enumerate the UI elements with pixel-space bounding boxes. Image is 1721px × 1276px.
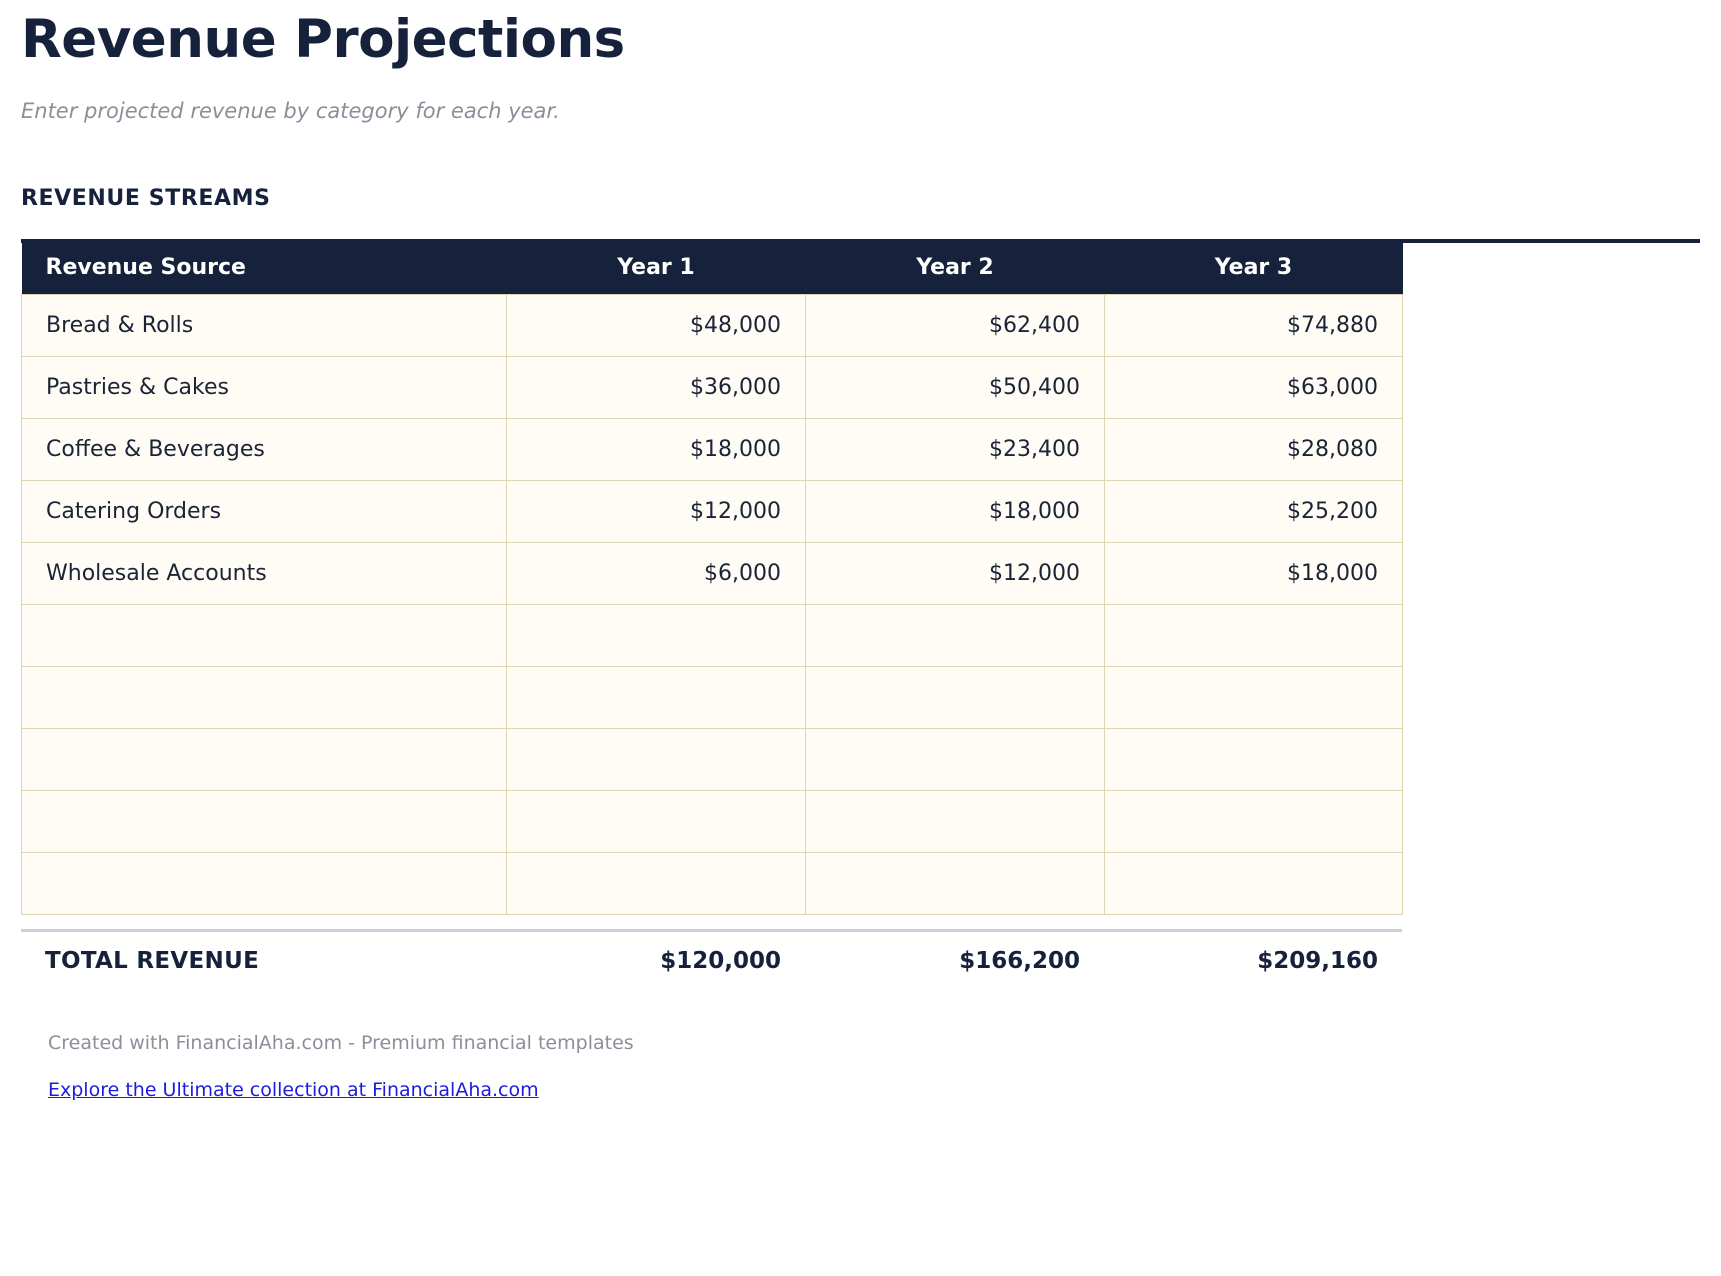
table-row: Catering Orders$12,000$18,000$25,200 [22,480,1403,542]
cell-year-3[interactable] [1105,666,1403,728]
table-row: Wholesale Accounts$6,000$12,000$18,000 [22,542,1403,604]
table-body: Bread & Rolls$48,000$62,400$74,880Pastri… [22,294,1403,914]
cell-year-2[interactable] [806,604,1105,666]
column-header-revenue-source: Revenue Source [22,242,507,294]
cell-year-1[interactable]: $36,000 [507,356,806,418]
cell-year-1[interactable] [507,728,806,790]
footer-note: Created with FinancialAha.com - Premium … [21,1031,1700,1055]
cell-year-3[interactable] [1105,604,1403,666]
footer-link[interactable]: Explore the Ultimate collection at Finan… [48,1078,539,1102]
cell-year-3[interactable]: $25,200 [1105,480,1403,542]
cell-year-2[interactable]: $23,400 [806,418,1105,480]
cell-year-3[interactable]: $18,000 [1105,542,1403,604]
cell-year-2[interactable]: $18,000 [806,480,1105,542]
table-row: Bread & Rolls$48,000$62,400$74,880 [22,294,1403,356]
total-revenue-year-2: $166,200 [805,948,1104,974]
cell-revenue-source[interactable] [22,728,507,790]
total-revenue-label: TOTAL REVENUE [21,948,506,974]
table-row-empty [22,666,1403,728]
cell-year-3[interactable] [1105,790,1403,852]
table-row: Coffee & Beverages$18,000$23,400$28,080 [22,418,1403,480]
column-header-year-1: Year 1 [507,242,806,294]
cell-year-3[interactable]: $74,880 [1105,294,1403,356]
cell-year-1[interactable]: $48,000 [507,294,806,356]
cell-year-2[interactable]: $62,400 [806,294,1105,356]
cell-year-2[interactable]: $50,400 [806,356,1105,418]
table-header-row: Revenue Source Year 1 Year 2 Year 3 [22,242,1403,294]
column-header-year-2: Year 2 [806,242,1105,294]
table-row-empty [22,728,1403,790]
cell-revenue-source[interactable]: Bread & Rolls [22,294,507,356]
total-revenue-row: TOTAL REVENUE $120,000 $166,200 $209,160 [21,929,1402,991]
cell-year-1[interactable]: $6,000 [507,542,806,604]
cell-year-2[interactable]: $12,000 [806,542,1105,604]
cell-revenue-source[interactable]: Wholesale Accounts [22,542,507,604]
revenue-table-wrapper: Revenue Source Year 1 Year 2 Year 3 Brea… [21,239,1700,991]
cell-year-1[interactable] [507,852,806,914]
cell-revenue-source[interactable] [22,604,507,666]
page-title: Revenue Projections [21,0,1700,72]
column-header-year-3: Year 3 [1105,242,1403,294]
cell-revenue-source[interactable] [22,666,507,728]
page-footer: Created with FinancialAha.com - Premium … [21,991,1700,1102]
table-row-empty [22,604,1403,666]
table-row-empty [22,790,1403,852]
cell-year-3[interactable] [1105,728,1403,790]
cell-year-1[interactable] [507,666,806,728]
cell-revenue-source[interactable] [22,852,507,914]
cell-revenue-source[interactable] [22,790,507,852]
cell-year-1[interactable]: $12,000 [507,480,806,542]
cell-year-1[interactable] [507,790,806,852]
cell-revenue-source[interactable]: Coffee & Beverages [22,418,507,480]
section-title-revenue-streams: REVENUE STREAMS [21,124,1700,212]
cell-year-2[interactable] [806,790,1105,852]
cell-year-3[interactable] [1105,852,1403,914]
cell-year-1[interactable] [507,604,806,666]
cell-year-2[interactable] [806,852,1105,914]
cell-year-1[interactable]: $18,000 [507,418,806,480]
table-header: Revenue Source Year 1 Year 2 Year 3 [22,242,1403,294]
cell-revenue-source[interactable]: Catering Orders [22,480,507,542]
revenue-projections-page: Revenue Projections Enter projected reve… [0,0,1721,1276]
revenue-streams-table: Revenue Source Year 1 Year 2 Year 3 Brea… [21,242,1403,915]
cell-revenue-source[interactable]: Pastries & Cakes [22,356,507,418]
cell-year-3[interactable]: $63,000 [1105,356,1403,418]
table-row-empty [22,852,1403,914]
page-subtitle: Enter projected revenue by category for … [21,72,1700,124]
cell-year-3[interactable]: $28,080 [1105,418,1403,480]
total-revenue-year-1: $120,000 [506,948,805,974]
table-row: Pastries & Cakes$36,000$50,400$63,000 [22,356,1403,418]
total-revenue-year-3: $209,160 [1104,948,1402,974]
cell-year-2[interactable] [806,666,1105,728]
cell-year-2[interactable] [806,728,1105,790]
